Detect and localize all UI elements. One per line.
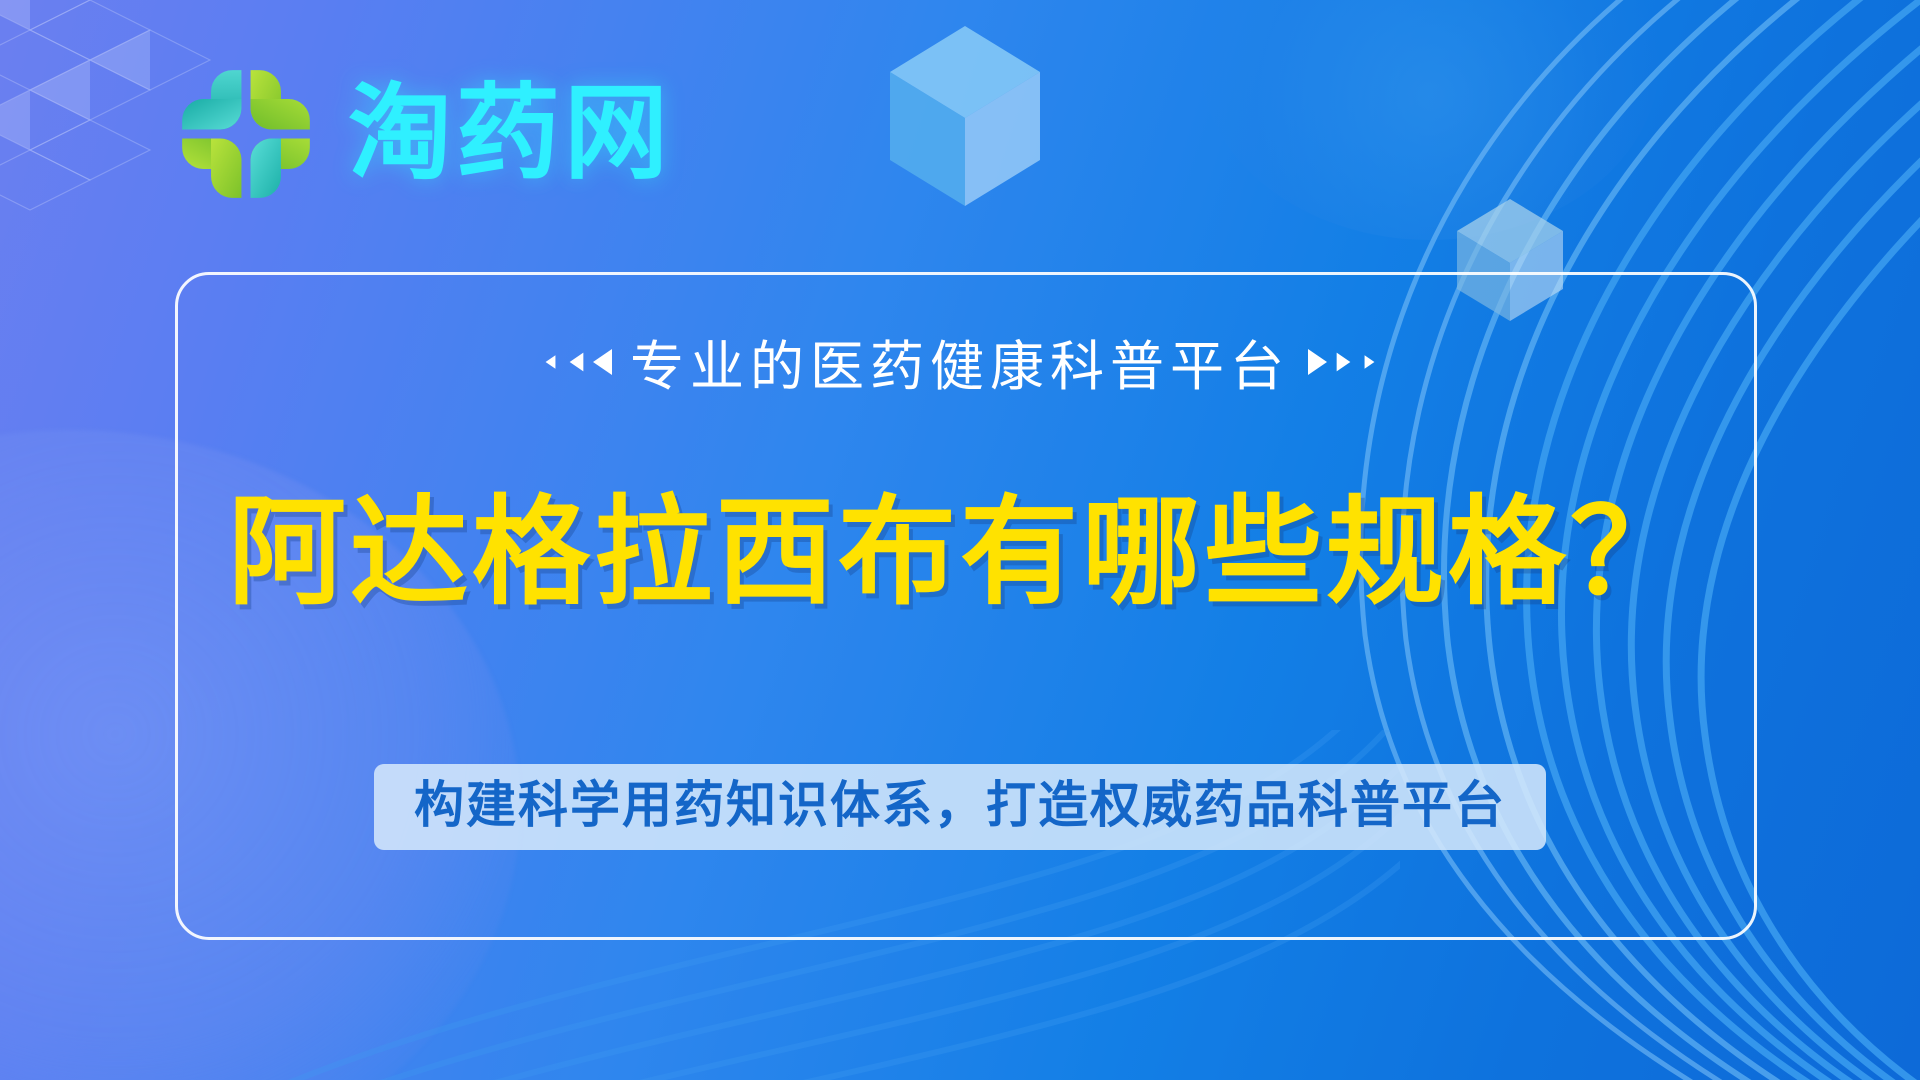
brand-name: 淘药网 [348,82,672,186]
blob-topright-decoration [1200,0,1660,240]
page-title: 阿达格拉西布有哪些规格？ [0,487,1920,619]
brand-logo-lockup[interactable]: 淘药网 [170,58,672,210]
slogan-pill: 构建科学用药知识体系，打造权威药品科普平台 [374,764,1546,850]
cube-3d-large-icon [880,20,1050,210]
medical-cross-leaf-logo-icon [170,58,322,210]
promo-banner: 淘药网 专业的医药健康科普平台 阿达格拉西布有哪些规格？ 构建科学用药知识体系，… [0,0,1920,1080]
pill-row: 构建科学用药知识体系，打造权威药品科普平台 [0,764,1920,850]
